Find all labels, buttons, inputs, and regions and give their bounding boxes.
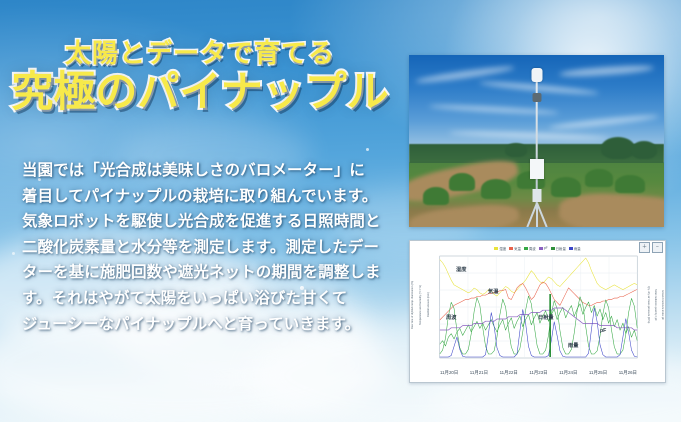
legend-swatch <box>509 247 513 250</box>
x-tick-label: 11月22日 <box>500 370 518 376</box>
weather-sensor-top <box>531 68 542 82</box>
body-copy-line: 気象ロボットを駆使し光合成を促進する日照時間と <box>22 209 394 235</box>
body-copy-block: 当園では「光合成は美味しさのバロメーター」に 着目してパイナップルの栽培に取り組… <box>22 158 394 337</box>
legend-item[interactable]: 日射量 <box>551 246 566 251</box>
legend-item[interactable]: 湿度 <box>494 246 506 251</box>
x-tick-label: 11月26日 <box>619 370 637 376</box>
chart-legend: 湿度気温周波pF日射量雨量 <box>410 244 665 252</box>
series-label-rainfall: 雨量 <box>568 342 578 349</box>
x-tick-label: 11月21日 <box>470 370 488 376</box>
tripod-leg <box>536 203 538 227</box>
legend-swatch <box>539 247 543 250</box>
body-copy-line: ターを基に施肥回数や遮光ネットの期間を調整しま <box>22 260 394 286</box>
sensor-chart-panel: ＋ − 湿度気温周波pF日射量雨量 Dew rate of dryblub te… <box>409 240 666 383</box>
body-copy-line: 着目してパイナップルの栽培に取り組んでいます。 <box>22 184 394 210</box>
photo-pineapple-plant <box>423 187 449 205</box>
photo-pineapple-plant <box>449 173 475 191</box>
weather-camera-sensor <box>532 93 541 102</box>
photo-pineapple-plant <box>585 169 613 187</box>
photo-pineapple-plant <box>551 177 581 197</box>
legend-item[interactable]: pF <box>539 246 548 250</box>
photo-tree <box>601 137 635 159</box>
series-label-frequency: 周波 <box>446 314 456 321</box>
headline-line-2: 究極のパイナップル <box>0 69 400 115</box>
body-copy-line: す。それはやがて太陽をいっぱい浴びた甘くて <box>22 286 394 312</box>
legend-label: 湿度 <box>499 246 506 251</box>
photo-tree <box>631 141 657 159</box>
weather-control-box <box>530 159 544 179</box>
x-tick-label: 11月25日 <box>589 370 607 376</box>
x-tick-label: 11月24日 <box>559 370 577 376</box>
legend-label: 周波 <box>529 246 536 251</box>
legend-label: 雨量 <box>574 246 581 251</box>
chart-plot-area[interactable]: 湿度 気温 周波 日射量 pF 雨量 <box>410 252 665 370</box>
chart-x-axis: 11月20日 11月21日 11月22日 11月23日 11月24日 11月25… <box>440 368 637 378</box>
series-label-pf: pF <box>600 328 606 334</box>
body-copy-line: 二酸化炭素量と水分等を測定します。測定したデー <box>22 235 394 261</box>
x-tick-label: 11月23日 <box>529 370 547 376</box>
chart-svg <box>410 252 665 370</box>
series-label-humidity: 湿度 <box>456 266 466 273</box>
series-label-temperature: 気温 <box>488 288 498 295</box>
legend-item[interactable]: 雨量 <box>569 246 581 251</box>
headline-line-1: 太陽とデータで育てる <box>0 40 400 67</box>
legend-swatch <box>494 247 498 250</box>
photo-tree <box>505 143 527 157</box>
body-copy-line: ジューシーなパイナップルへと育っていきます。 <box>22 312 394 338</box>
legend-item[interactable]: 周波 <box>524 246 536 251</box>
legend-label: 日射量 <box>556 246 566 251</box>
legend-label: 気温 <box>514 246 521 251</box>
sparkle-icon <box>12 252 15 255</box>
legend-item[interactable]: 気温 <box>509 246 521 251</box>
rain-event-marker <box>549 294 551 357</box>
sparkle-icon <box>366 148 369 151</box>
photo-pineapple-plant <box>481 179 511 199</box>
legend-swatch <box>524 247 528 250</box>
promo-banner: 太陽とデータで育てる 究極のパイナップル 当園では「光合成は美味しさのバロメータ… <box>0 0 681 422</box>
weather-logger-box <box>532 189 541 202</box>
photo-pineapple-plant <box>615 175 645 193</box>
legend-label: pF <box>544 246 548 250</box>
legend-swatch <box>551 247 555 250</box>
legend-swatch <box>569 247 573 250</box>
headline-block: 太陽とデータで育てる 究極のパイナップル <box>0 40 400 115</box>
series-label-solar: 日射量 <box>538 314 554 321</box>
body-copy-line: 当園では「光合成は美味しさのバロメーター」に <box>22 158 394 184</box>
field-photo: パイナップル畑に設置された気象ロボット（観測マスト） <box>409 55 664 227</box>
x-tick-label: 11月20日 <box>440 370 458 376</box>
